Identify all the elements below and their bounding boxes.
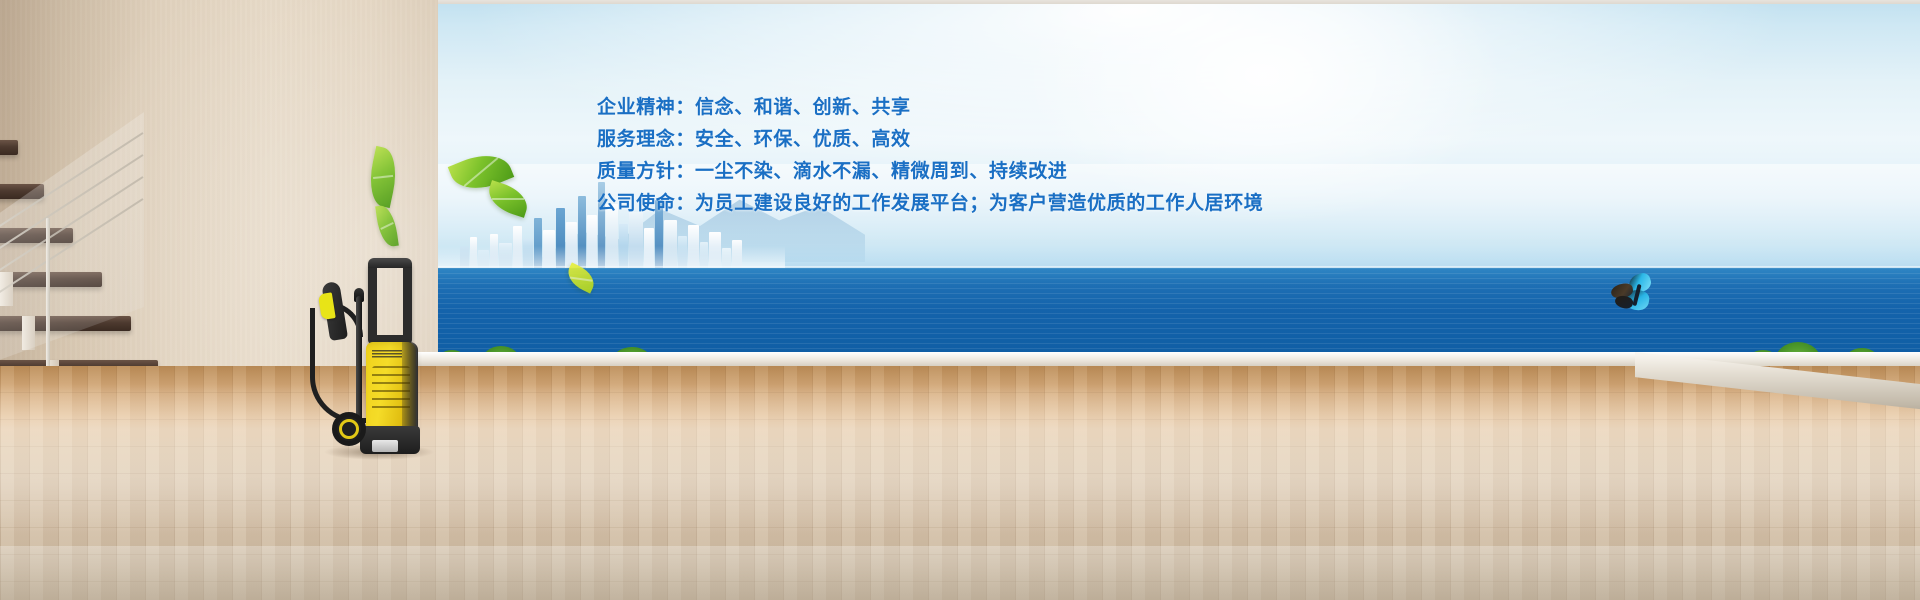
washer-vents	[372, 366, 410, 414]
blue-butterfly	[1611, 272, 1663, 316]
window-frame-top	[415, 0, 1920, 4]
culture-line-service: 服务理念：安全、环保、优质、高效	[597, 124, 1597, 156]
culture-line-spirit: 企业精神：信念、和谐、创新、共享	[597, 92, 1597, 124]
wood-parquet-floor	[0, 366, 1920, 600]
spray-lance	[356, 296, 362, 422]
high-pressure-washer	[310, 258, 440, 454]
washer-wheel-hub	[339, 419, 359, 439]
washer-handle-top	[368, 258, 412, 268]
culture-line-mission: 公司使命：为员工建设良好的工作发展平台；为客户营造优质的工作人居环境	[597, 188, 1597, 220]
company-culture-banner: 企业精神：信念、和谐、创新、共享 服务理念：安全、环保、优质、高效 质量方针：一…	[0, 0, 1920, 600]
floor-reflection	[0, 384, 1920, 534]
floor-foreground-glare	[0, 546, 1920, 600]
culture-line-quality: 质量方针：一尘不染、滴水不漏、精微周到、持续改进	[597, 156, 1597, 188]
washer-brand-label	[372, 350, 402, 358]
washer-nozzle-cap	[372, 440, 398, 452]
washer-carry-handle	[368, 258, 412, 344]
stair-railing	[0, 110, 162, 370]
culture-statement-block: 企业精神：信念、和谐、创新、共享 服务理念：安全、环保、优质、高效 质量方针：一…	[597, 92, 1597, 220]
